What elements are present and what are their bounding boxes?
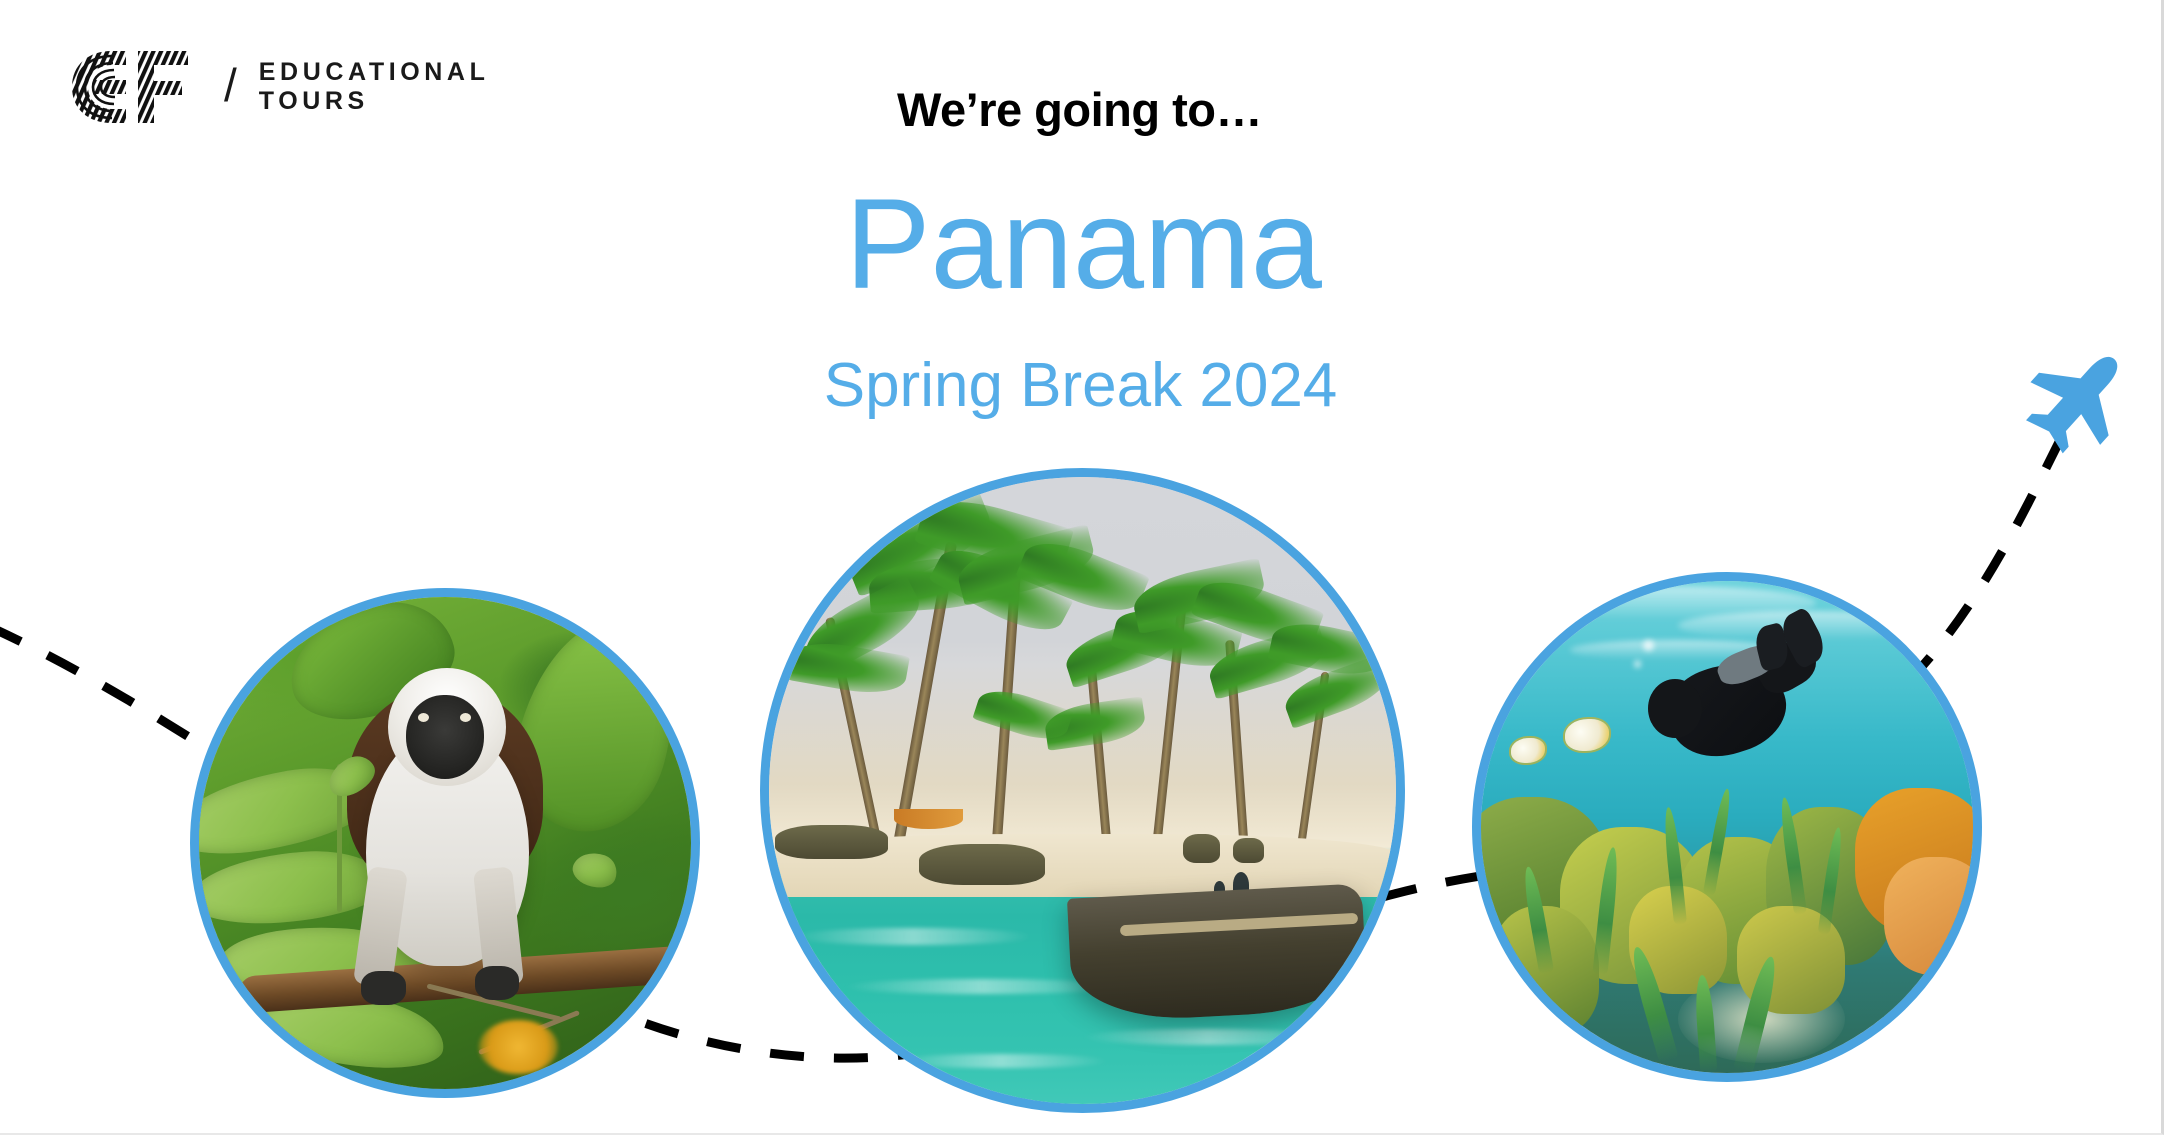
rainforest-photo — [199, 597, 691, 1089]
photo-circle-beach[interactable] — [760, 468, 1405, 1113]
photo-circle-snorkeling[interactable] — [1472, 572, 1982, 1082]
presentation-slide: / EDUCATIONAL TOURS We’re going to… Pana… — [0, 0, 2164, 1135]
destination-title: Panama — [3, 178, 2164, 312]
trip-dates-subtitle: Spring Break 2024 — [0, 352, 2161, 420]
eyebrow-text: We’re going to… — [0, 82, 2160, 137]
island-beach-photo — [769, 477, 1396, 1104]
photo-circle-wildlife[interactable] — [190, 588, 700, 1098]
coral-reef-photo — [1481, 581, 1973, 1073]
